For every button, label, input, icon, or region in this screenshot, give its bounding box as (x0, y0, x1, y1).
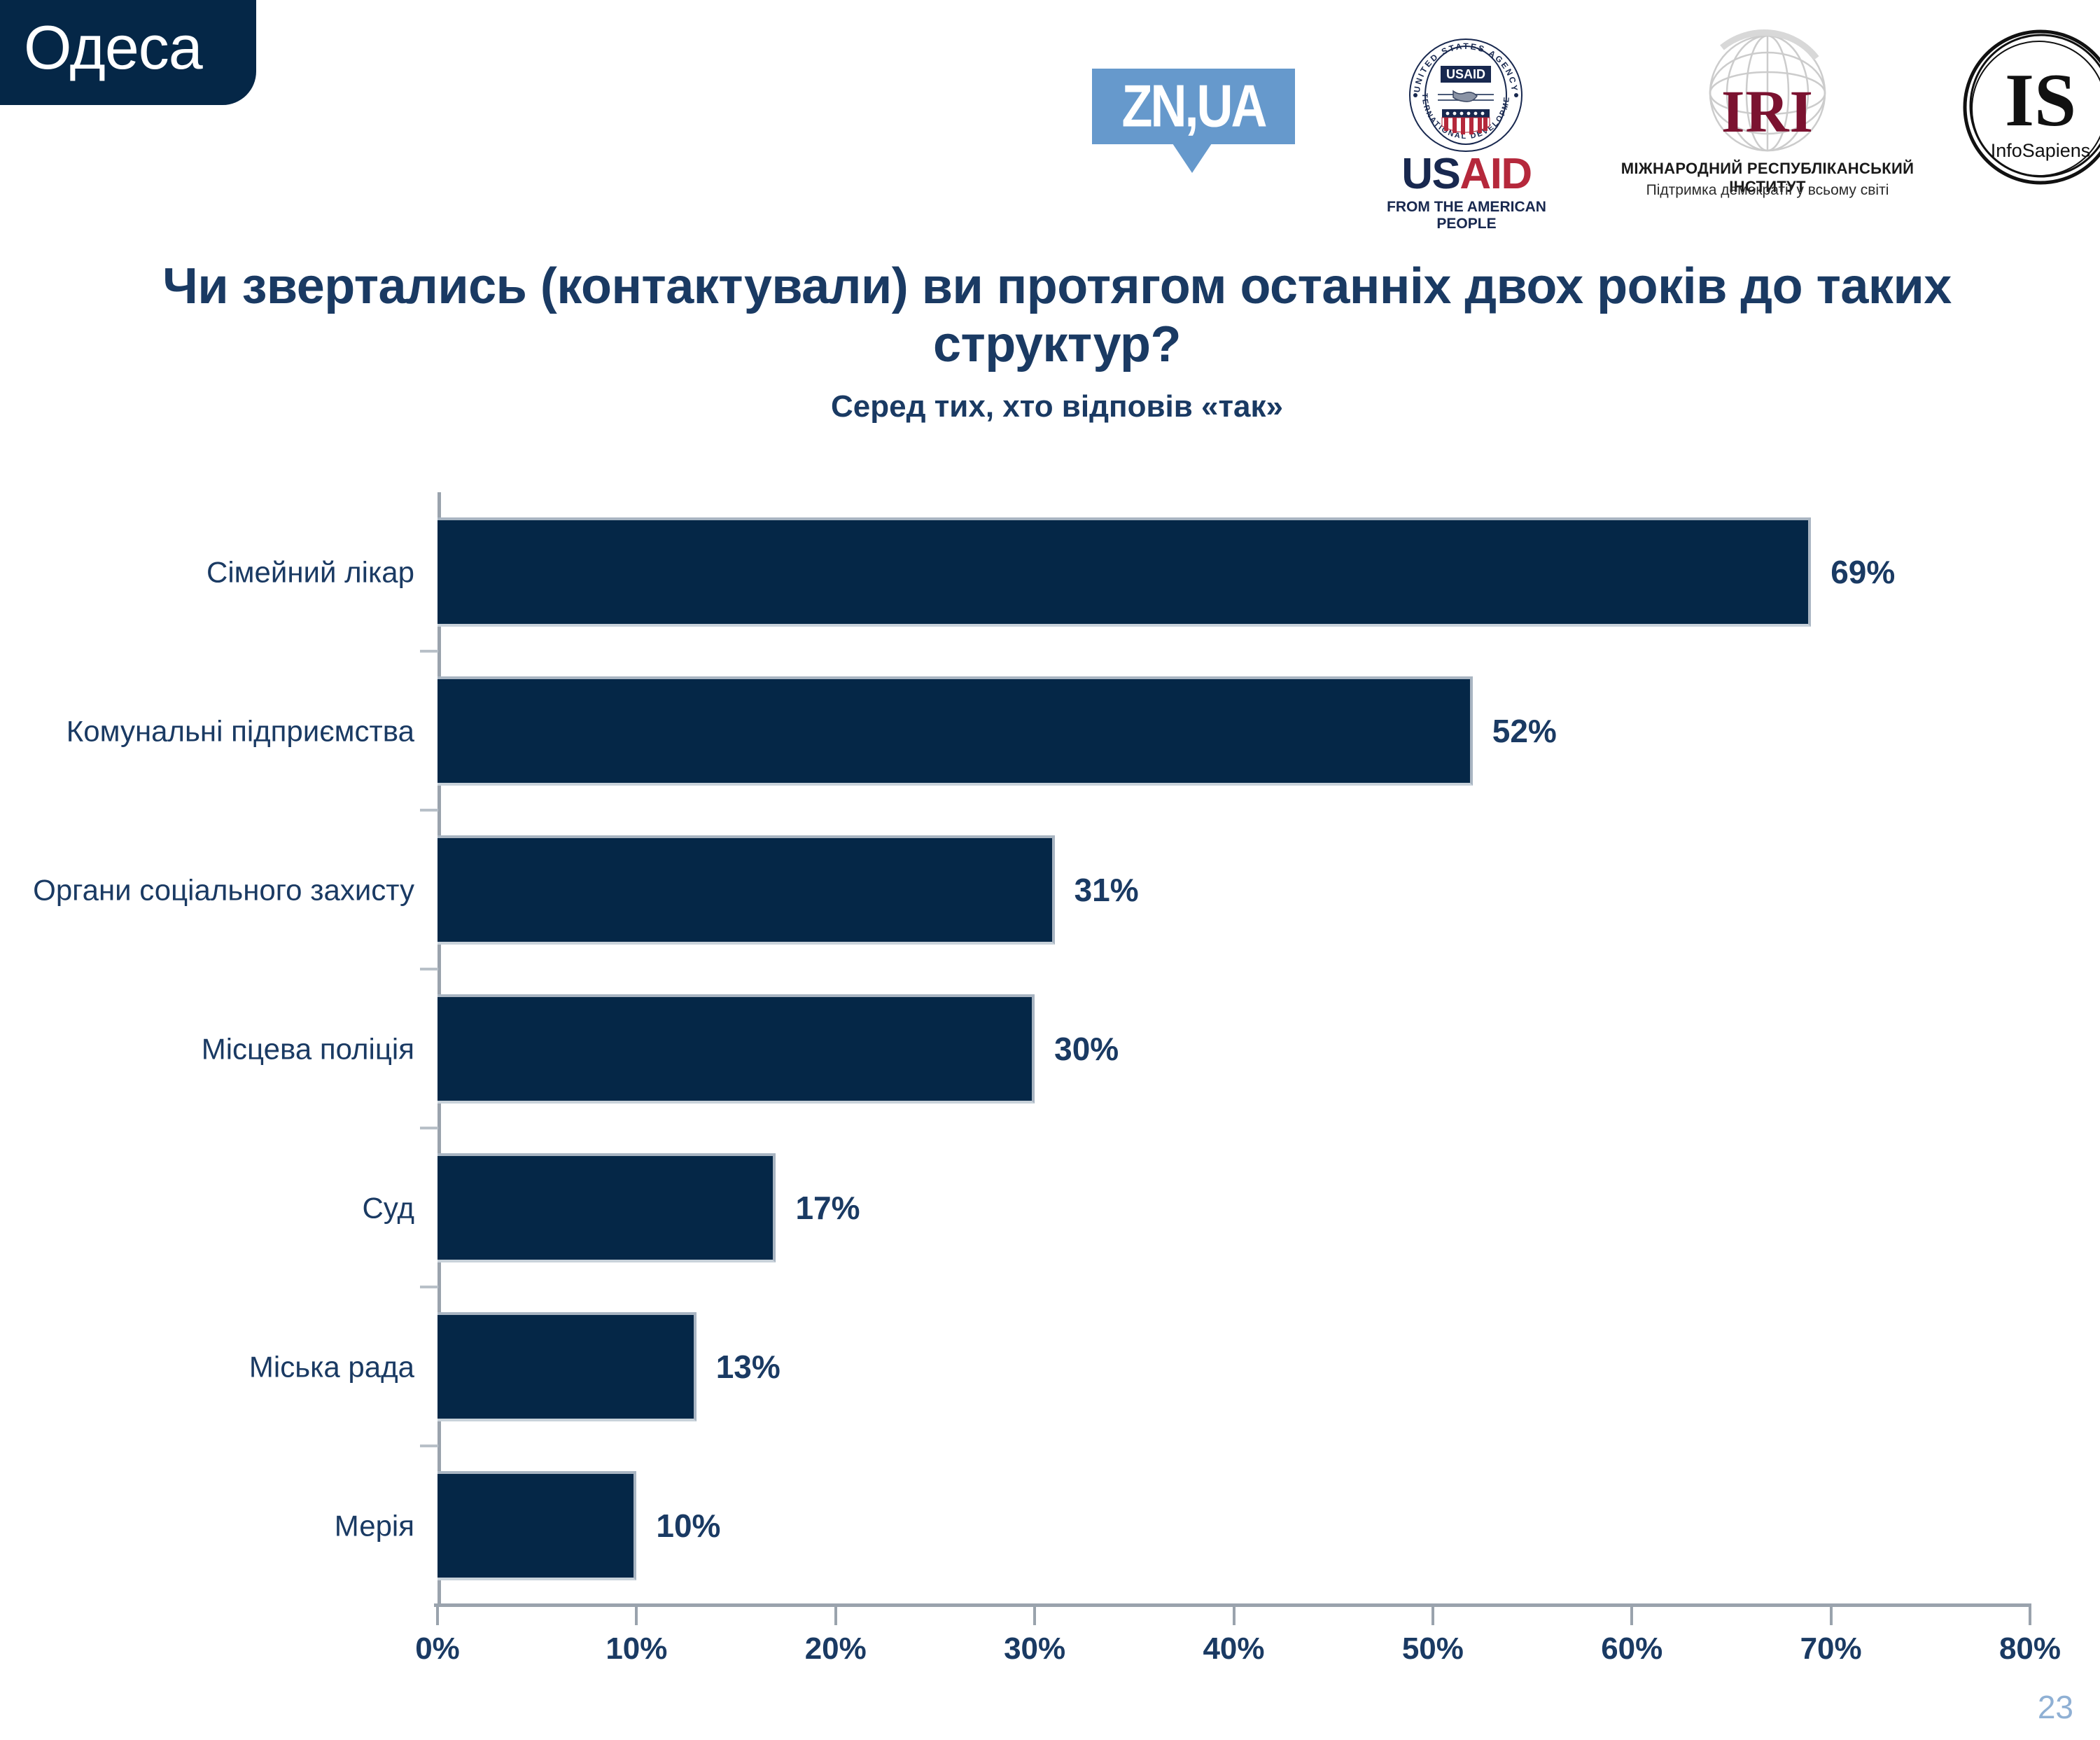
usaid-wordmark: USAID (1365, 153, 1568, 196)
page-number: 23 (2038, 1688, 2073, 1726)
bar-category-label: Суд (22, 1190, 414, 1225)
bar-category-label: Сімейний лікар (22, 554, 414, 590)
x-axis-tick (1830, 1607, 1833, 1625)
zn-ua-label: ZN,UA (1122, 77, 1266, 137)
x-axis-tick (2029, 1607, 2031, 1625)
y-axis-tick (420, 1127, 438, 1129)
y-axis-tick (420, 1286, 438, 1288)
bar-chart: Сімейний лікар69%Комунальні підприємства… (0, 483, 2100, 1659)
x-axis-tick (436, 1607, 439, 1625)
logo-strip: ZN,UA UNITED STATES AGENCY INTERNATIONAL… (1085, 21, 2079, 210)
usaid-tagline: FROM THE AMERICAN PEOPLE (1365, 199, 1568, 232)
bar (437, 994, 1035, 1104)
x-axis-tick-label: 70% (1800, 1631, 1862, 1666)
bar-category-label: Місцева поліція (22, 1031, 414, 1066)
zn-ua-bubble: ZN,UA (1092, 69, 1295, 144)
x-axis-tick-label: 40% (1203, 1631, 1264, 1666)
infosapiens-name: InfoSapiens (1960, 140, 2100, 162)
zn-ua-bubble-tail (1172, 144, 1212, 173)
city-badge: Одеса (0, 0, 256, 105)
x-axis-tick (1431, 1607, 1434, 1625)
usaid-word-us: US (1401, 150, 1459, 198)
bar-row: Суд17% (0, 1128, 2100, 1287)
svg-text:USAID: USAID (1446, 67, 1485, 81)
x-axis-tick (1630, 1607, 1633, 1625)
bar-value-label: 69% (1830, 553, 1895, 591)
x-axis-tick-label: 30% (1004, 1631, 1065, 1666)
usaid-seal-icon: UNITED STATES AGENCY INTERNATIONAL DEVEL… (1407, 36, 1525, 154)
bar (437, 835, 1055, 945)
usaid-word-aid: AID (1459, 150, 1531, 198)
bar (437, 1312, 696, 1421)
bar-value-label: 30% (1054, 1030, 1119, 1068)
iri-mark: IRI (1603, 81, 1932, 141)
x-axis-tick (635, 1607, 638, 1625)
infosapiens-mark: IS (1960, 63, 2100, 139)
x-axis-tick (1033, 1607, 1036, 1625)
chart-subtitle: Серед тих, хто відповів «так» (105, 389, 2009, 424)
x-axis-tick-label: 60% (1601, 1631, 1662, 1666)
zn-ua-logo: ZN,UA (1092, 69, 1295, 160)
bar-row: Місцева поліція30% (0, 969, 2100, 1128)
bar-value-label: 52% (1492, 712, 1557, 750)
bar-category-label: Міська рада (22, 1349, 414, 1384)
y-axis-tick (420, 650, 438, 653)
y-axis-tick (420, 1445, 438, 1447)
bar-value-label: 13% (716, 1348, 780, 1386)
bar-value-label: 10% (656, 1507, 720, 1545)
x-axis-tick-label: 10% (605, 1631, 667, 1666)
y-axis-tick (420, 809, 438, 812)
bar-category-label: Органи соціального захисту (22, 872, 414, 907)
title-block: Чи звертались (контактували) ви протягом… (105, 258, 2009, 424)
x-axis-tick (834, 1607, 837, 1625)
y-axis-tick (420, 968, 438, 970)
bar-row: Міська рада13% (0, 1287, 2100, 1446)
bar-row: Органи соціального захисту31% (0, 810, 2100, 969)
bar (437, 1153, 776, 1262)
chart-title: Чи звертались (контактували) ви протягом… (105, 258, 2009, 374)
bar-category-label: Комунальні підприємства (22, 713, 414, 749)
bar-value-label: 17% (795, 1189, 860, 1227)
bar (437, 517, 1811, 627)
bar (437, 1471, 636, 1580)
bar-row: Мерія10% (0, 1446, 2100, 1605)
bar-category-label: Мерія (22, 1508, 414, 1543)
iri-institute-tagline: Підтримка демократії у всьому світі (1603, 182, 1932, 199)
x-axis-tick (1233, 1607, 1235, 1625)
x-axis-tick-label: 20% (805, 1631, 867, 1666)
bar-value-label: 31% (1074, 871, 1139, 909)
infosapiens-logo: IS InfoSapiens (1960, 27, 2100, 200)
x-axis-tick-label: 50% (1402, 1631, 1464, 1666)
usaid-logo: UNITED STATES AGENCY INTERNATIONAL DEVEL… (1365, 36, 1568, 211)
bar (437, 676, 1473, 786)
bar-row: Сімейний лікар69% (0, 492, 2100, 651)
x-axis-tick-label: 80% (1999, 1631, 2061, 1666)
city-badge-label: Одеса (24, 17, 202, 88)
x-axis-tick-label: 0% (415, 1631, 460, 1666)
iri-logo: IRI МІЖНАРОДНИЙ РЕСПУБЛІКАНСЬКИЙ ІНСТИТУ… (1603, 27, 1932, 209)
bar-row: Комунальні підприємства52% (0, 651, 2100, 810)
